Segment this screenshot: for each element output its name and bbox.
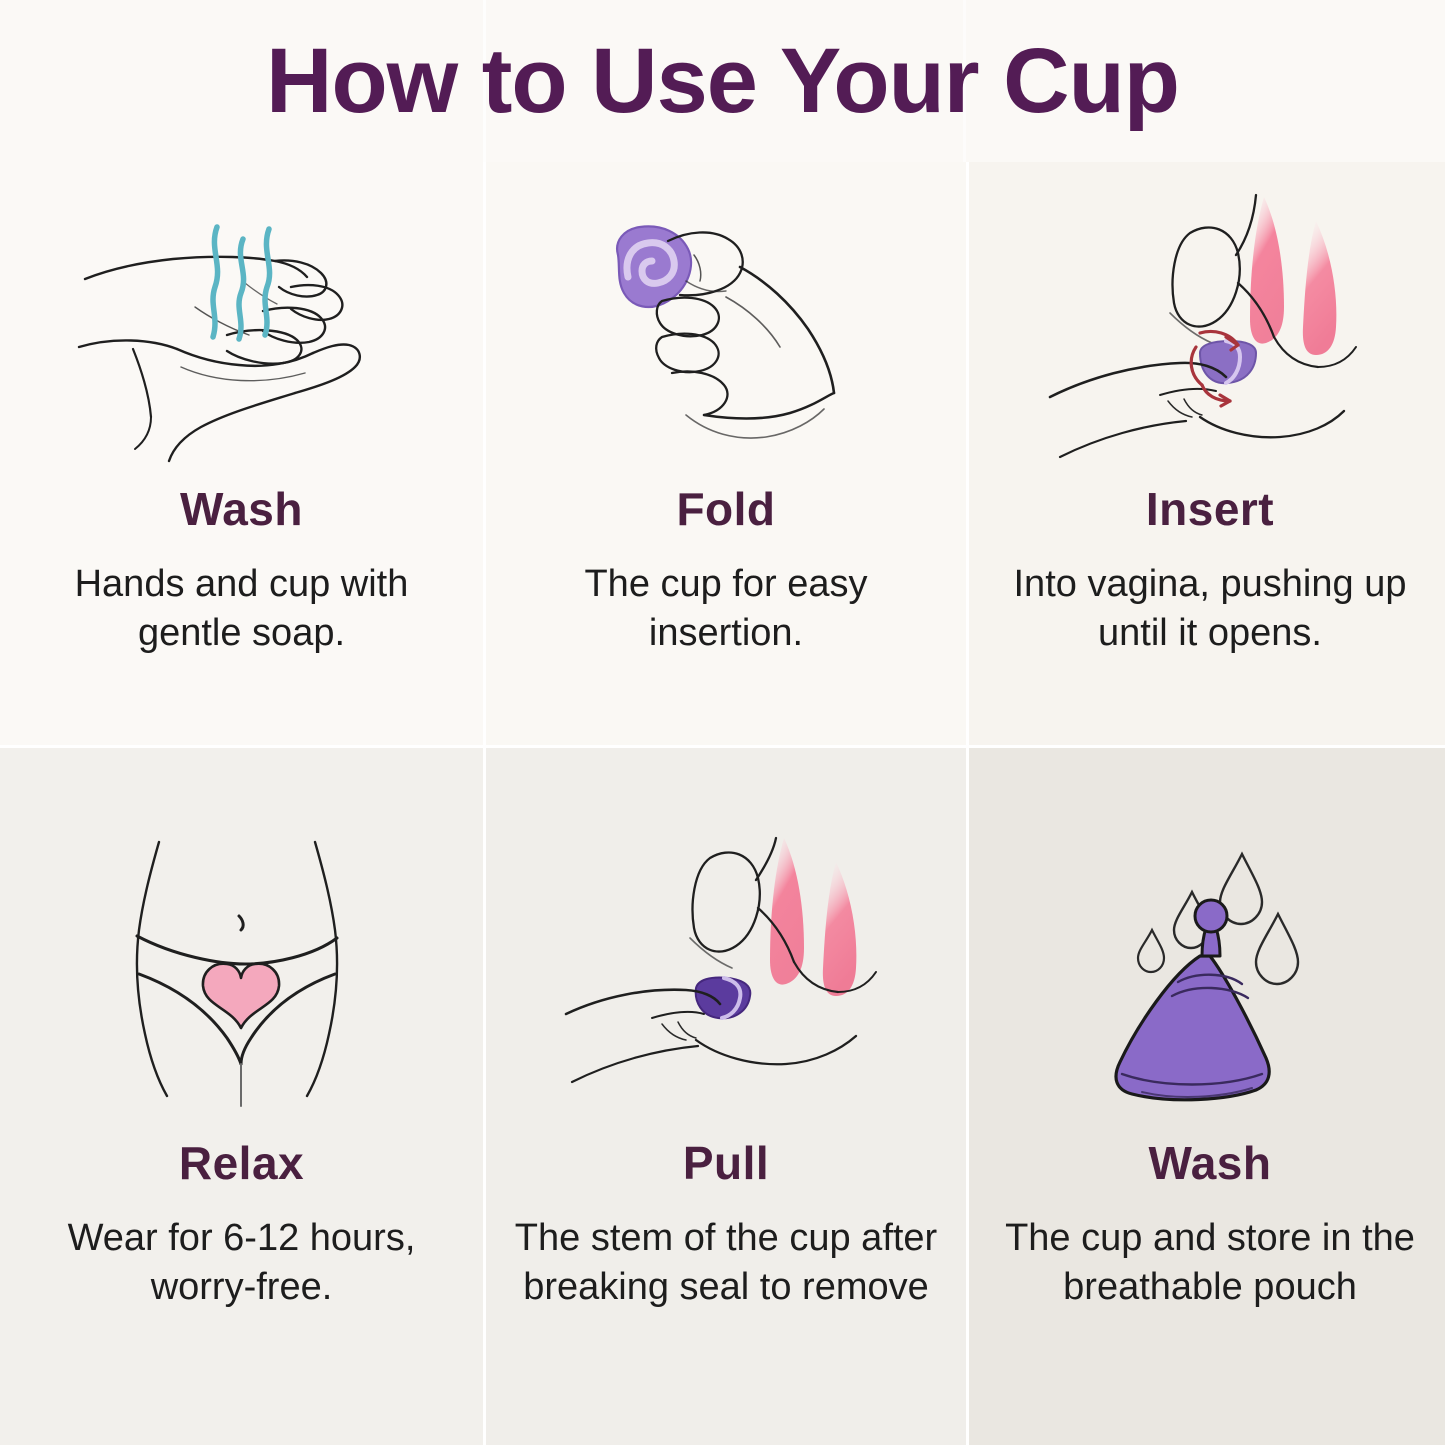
step-panel-wash-cup: Wash The cup and store in the breathable… xyxy=(969,748,1445,1445)
step-panel-wash-hands: Wash Hands and cup with gentle soap. xyxy=(0,162,483,745)
step-title: Relax xyxy=(179,1140,304,1186)
step-panel-fold: Fold The cup for easy insertion. xyxy=(486,162,966,745)
step-panel-relax: Relax Wear for 6-12 hours, worry-free. xyxy=(0,748,483,1445)
removing-cup-anatomy-icon xyxy=(498,748,954,1138)
page-title: How to Use Your Cup xyxy=(266,35,1179,127)
step-title: Pull xyxy=(683,1140,769,1186)
hands-washing-icon xyxy=(12,162,471,480)
inserting-cup-anatomy-icon xyxy=(981,162,1439,480)
step-title: Fold xyxy=(676,486,775,532)
step-title: Insert xyxy=(1146,486,1274,532)
header: How to Use Your Cup xyxy=(0,0,1445,162)
step-title: Wash xyxy=(1149,1140,1272,1186)
step-panel-pull: Pull The stem of the cup after breaking … xyxy=(486,748,966,1445)
step-description: The cup and store in the breathable pouc… xyxy=(995,1214,1425,1311)
step-title: Wash xyxy=(180,486,303,532)
infographic-page: How to Use Your Cup xyxy=(0,0,1445,1445)
step-description: Into vagina, pushing up until it opens. xyxy=(995,560,1425,657)
step-panel-insert: Insert Into vagina, pushing up until it … xyxy=(969,162,1445,745)
hand-folding-cup-icon xyxy=(498,162,954,480)
torso-underwear-heart-icon xyxy=(12,748,471,1138)
steps-grid: Wash Hands and cup with gentle soap. xyxy=(0,162,1445,1445)
step-description: Wear for 6-12 hours, worry-free. xyxy=(27,1214,457,1311)
step-description: The stem of the cup after breaking seal … xyxy=(511,1214,941,1311)
step-description: The cup for easy insertion. xyxy=(511,560,941,657)
step-description: Hands and cup with gentle soap. xyxy=(27,560,457,657)
cup-with-water-droplets-icon xyxy=(981,748,1439,1138)
